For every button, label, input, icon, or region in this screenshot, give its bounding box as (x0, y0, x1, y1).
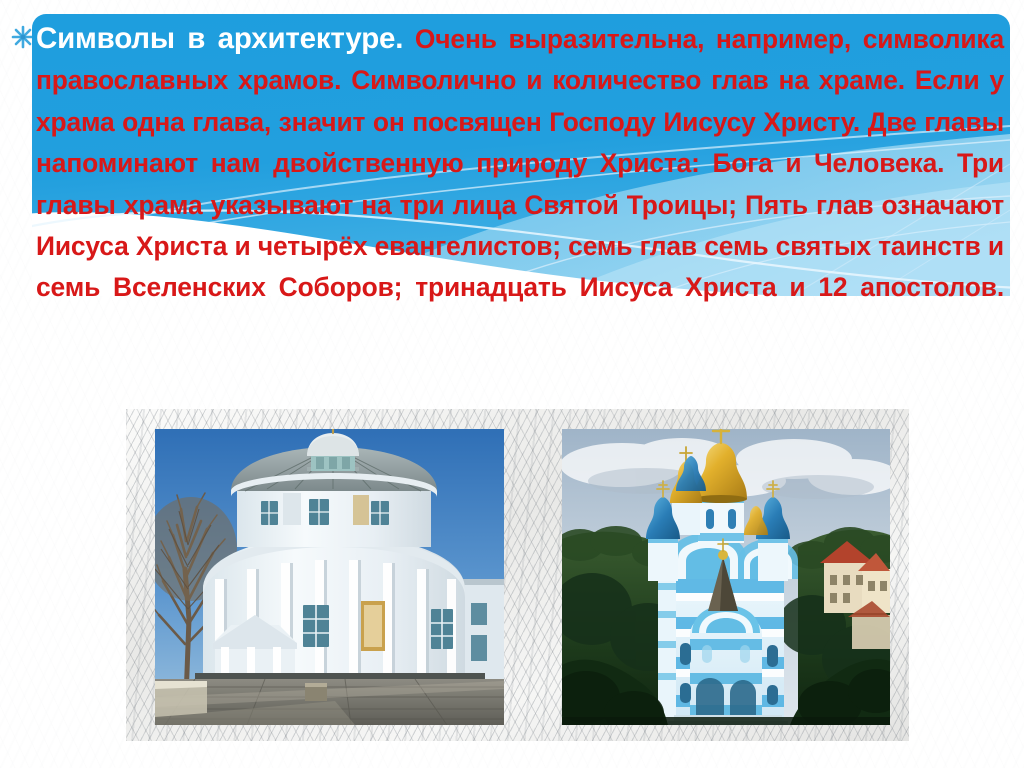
page-title: Символы в архитектуре. (36, 22, 403, 55)
photo-strip (126, 409, 909, 741)
slide-canvas: Символы в архитектуре. Очень выразительн… (0, 0, 1024, 768)
photo-white-rotunda-church[interactable] (155, 429, 504, 725)
slide-text-block: Символы в архитектуре. Очень выразительн… (36, 18, 1004, 350)
photo-blue-domed-church[interactable] (562, 429, 890, 725)
body-paragraph: Очень выразительна, например, символика … (36, 24, 1004, 302)
